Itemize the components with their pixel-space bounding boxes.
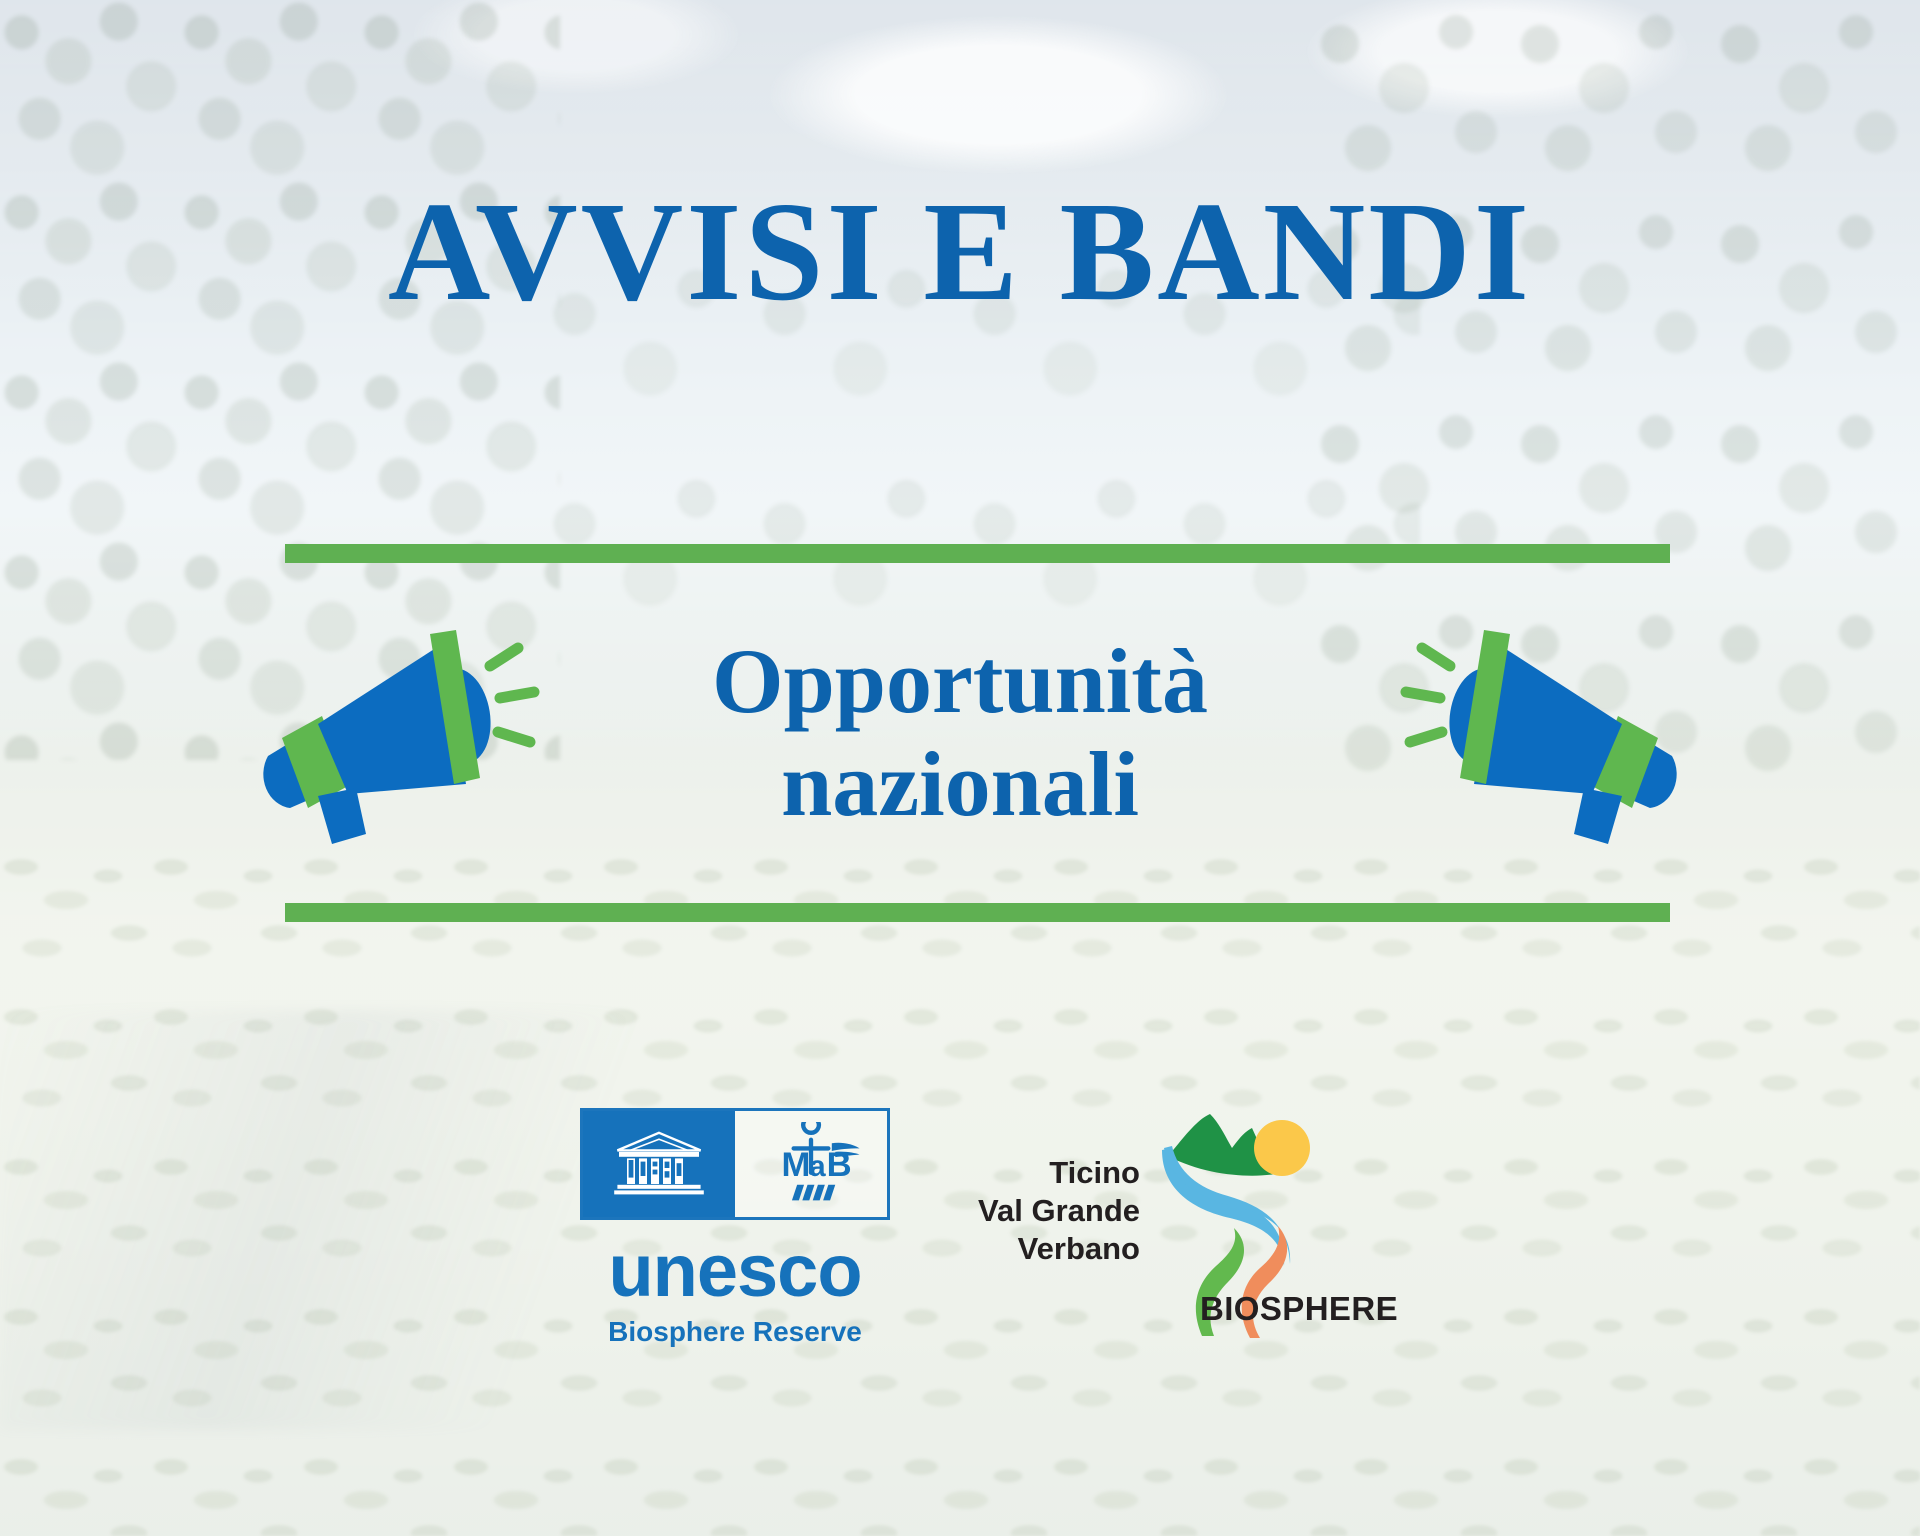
mab-emblem-icon: M a B: [735, 1111, 887, 1217]
divider-rule-bottom: [285, 903, 1670, 922]
unesco-tagline: Biosphere Reserve: [580, 1318, 890, 1346]
biosphere-logo: Ticino Val Grande Verbano: [940, 1104, 1380, 1354]
svg-text:a: a: [809, 1150, 826, 1183]
unesco-emblem-box: M a B: [580, 1108, 890, 1220]
subtitle-line-1: Opportunità: [712, 630, 1208, 732]
unesco-temple-icon: [583, 1111, 735, 1217]
svg-text:M: M: [782, 1146, 811, 1184]
megaphone-icon-right: [1388, 628, 1688, 858]
megaphone-icon-left: [252, 628, 552, 858]
divider-rule-top: [285, 544, 1670, 563]
subtitle-line-2: nazionali: [520, 733, 1400, 836]
logo-row: M a B: [0, 1108, 1920, 1368]
unesco-logo: M a B: [580, 1108, 890, 1346]
biosphere-wordmark: BIOSPHERE: [1200, 1290, 1398, 1328]
page-title: AVVISI E BANDI: [0, 180, 1920, 322]
poster-canvas: AVVISI E BANDI Opportunità nazionali: [0, 0, 1920, 1536]
unesco-wordmark: unesco: [580, 1234, 890, 1308]
subtitle: Opportunità nazionali: [520, 630, 1400, 836]
